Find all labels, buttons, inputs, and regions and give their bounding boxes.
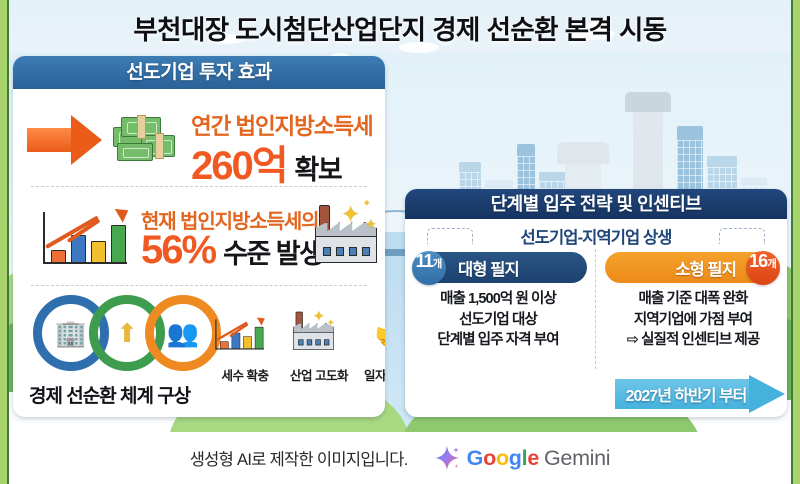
detail-line: ⇨ 실질적 인센티브 제공 [603,330,783,351]
detail-line: 매출 1,500억 원 이상 [408,289,588,310]
brand-letter-e: e [527,446,539,470]
factory-sparkle-icon: ✦ ✦ ✦ [309,207,381,265]
large-lot-count: 11 [416,251,433,272]
detail-line: 선도기업 대상 [408,310,588,331]
benefit-icon-row: 세수 확충 ✦ ✦ 산업 고도화 [213,313,385,384]
sparkle-icon: ✦ [313,309,325,324]
annual-tax-suffix: 확보 [295,148,342,187]
start-date-banner: 2027년 하반기 부터 [615,379,785,409]
money-stack-icon [111,113,177,167]
virtuous-cycle-rings: 🏢 ⬆ 👥 [33,295,223,371]
small-lot-pill: 소형 필지 16 개 [605,252,779,283]
growth-chart-icon [39,201,131,271]
benefit-item: ✦ ✦ 산업 고도화 [287,313,351,384]
current-tax-value-group: 56% 수준 발생 [141,228,322,273]
large-lot-details: 매출 1,500억 원 이상 선도기업 대상 단계별 입주 자격 부여 [408,289,588,351]
detail-line: 단계별 입주 자격 부여 [408,330,588,351]
right-panel-subtitle: 선도기업-지역기업 상생 [405,224,787,248]
brand-letter-o1: o [483,446,496,470]
brand-letter-g: G [467,446,483,470]
benefit-label: 산업 고도화 [287,365,351,384]
gemini-wordmark: GoogleGemini [467,446,611,471]
benefit-item: 🤝 일자리 창출 [361,313,385,384]
left-panel-body: 연간 법인지방소득세 260억 확보 현재 법인지방소득세의 [13,89,385,417]
small-lot-count: 16 [749,251,767,272]
virtuous-cycle-caption: 경제 선순환 체계 구상 [29,381,190,408]
row-divider [31,186,367,187]
chart-bar [51,250,66,263]
left-panel: 선도기업 투자 효과 연간 법인지방소득세 260억 [13,56,385,417]
detail-line: 지역기업에 가점 부여 [603,310,783,331]
handshake-icon: 🤝 [361,313,385,363]
small-lot-count-badge: 16 개 [746,251,780,285]
benefit-item: 세수 확충 [213,313,277,384]
detail-line: 매출 기준 대폭 완화 [603,289,783,310]
right-panel-header: 단계별 입주 전략 및 인센티브 [405,189,787,219]
small-lot-unit: 개 [767,256,777,271]
people-handshake-icon: 👥 [154,304,212,362]
industrial-tower [557,142,609,164]
footer: 생성형 AI로 제작한 이미지입니다. Go [9,432,791,484]
large-lot-unit: 개 [433,256,443,271]
right-arrow-icon [27,115,101,165]
chart-bar [111,225,126,263]
left-panel-header: 선도기업 투자 효과 [13,56,385,89]
column-divider [595,249,596,369]
benefit-label: 세수 확충 [213,365,277,384]
brand-letter-o2: o [496,446,509,470]
annual-tax-value-group: 260억 확보 [191,133,341,191]
gemini-sparkle-icon [434,445,460,471]
right-panel-body: 선도기업-지역기업 상생 11 개 대형 필지 매출 1,500억 원 이상 선… [405,219,787,417]
large-lot-pill: 11 개 대형 필지 [413,252,587,283]
brand-letter-g2: g [509,446,522,470]
annual-tax-value: 260억 [191,133,287,191]
brand-suffix: Gemini [544,446,610,470]
small-lot-details: 매출 기준 대폭 완화 지역기업에 가점 부여 ⇨ 실질적 인센티브 제공 [603,289,783,351]
infographic-root: 부천대장 도시첨단산업단지 경제 선순환 본격 시동 선도기업 투자 효과 연간… [0,0,800,484]
start-date-label: 2027년 하반기 부터 [620,379,752,409]
sparkle-icon: ✦ [327,318,334,327]
row-divider [31,285,367,286]
chart-bar [91,241,106,263]
benefit-label: 일자리 창출 [361,365,385,384]
sparkle-icon: ✦ [363,199,371,208]
industrial-tower [625,92,671,112]
factory-icon: ✦ ✦ [287,313,351,363]
ai-disclaimer: 생성형 AI로 제작한 이미지입니다. [190,446,408,470]
sparkle-icon: ✦ [341,203,360,226]
gemini-branding: GoogleGemini [434,445,611,471]
large-lot-label: 대형 필지 [458,256,519,280]
current-tax-value: 56% [141,228,215,273]
sparkle-icon: ✦ [365,217,377,231]
small-lot-label: 소형 필지 [675,256,736,280]
page-title: 부천대장 도시첨단산업단지 경제 선순환 본격 시동 [0,8,800,47]
growth-chart-icon [213,313,277,363]
current-tax-suffix: 수준 발생 [223,232,322,271]
large-lot-count-badge: 11 개 [412,251,446,285]
right-panel: 단계별 입주 전략 및 인센티브 선도기업-지역기업 상생 11 개 대형 필지… [405,189,787,417]
ring-people: 👥 [145,295,221,371]
